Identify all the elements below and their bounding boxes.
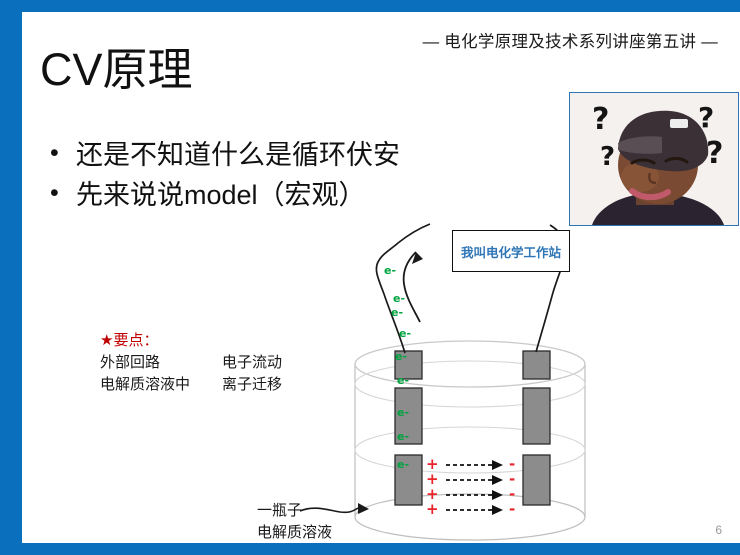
callout-box: 我叫电化学工作站 — [452, 230, 570, 272]
question-mark-icon: ? — [706, 136, 723, 171]
meme-image: ? ? ? ? — [569, 92, 739, 226]
keypoints-row: 外部回路 电子流动 — [100, 352, 282, 375]
bullet-marker: • — [50, 137, 76, 170]
list-item: • 还是不知道什么是循环伏安 — [50, 137, 480, 173]
question-mark-icon: ? — [592, 102, 609, 137]
electron-flow-arrow — [404, 252, 420, 322]
slide-page: — 电化学原理及技术系列讲座第五讲 — CV原理 • 还是不知道什么是循环伏安 … — [22, 12, 740, 543]
electron-label: e- — [384, 264, 396, 277]
keypoints-row-right: 电子流动 — [222, 352, 282, 375]
keypoints-row-right: 离子迁移 — [222, 374, 282, 397]
anion-label: - — [509, 455, 515, 473]
anion-label: - — [509, 485, 515, 503]
electron-flow-arrowhead — [412, 252, 423, 264]
list-item: • 先来说说model（宏观） — [50, 177, 480, 213]
meme-illustration: ? ? ? ? — [570, 93, 738, 225]
anion-label: - — [509, 500, 515, 518]
working-electrode-left — [395, 351, 422, 505]
bullet-list: • 还是不知道什么是循环伏安 • 先来说说model（宏观） — [50, 137, 480, 218]
electron-label: e- — [399, 327, 411, 340]
header-note: — 电化学原理及技术系列讲座第五讲 — — [423, 28, 718, 52]
cation-label: + — [426, 485, 439, 503]
callout-label: 我叫电化学工作站 — [461, 242, 561, 261]
anion-label: - — [509, 470, 515, 488]
bottle-label-line1: 一瓶子 — [257, 500, 332, 522]
slide-root: — 电化学原理及技术系列讲座第五讲 — CV原理 • 还是不知道什么是循环伏安 … — [0, 0, 740, 555]
bottle-label-line2: 电解质溶液 — [257, 522, 332, 543]
question-mark-icon: ? — [698, 101, 714, 134]
keypoints-block: ★要点： 外部回路 电子流动 电解质溶液中 离子迁移 — [100, 330, 282, 397]
cation-label: + — [426, 455, 439, 473]
keypoints-row-left: 电解质溶液中 — [100, 374, 222, 397]
wire-left — [376, 224, 430, 353]
cation-label: + — [426, 470, 439, 488]
counter-electrode-right — [523, 351, 550, 505]
electron-label: e- — [397, 430, 409, 443]
beaker-cylinder — [355, 341, 585, 540]
electron-label: e- — [393, 292, 405, 305]
electron-label: e- — [397, 374, 409, 387]
page-title: CV原理 — [40, 46, 193, 93]
electron-label: e- — [397, 458, 409, 471]
electron-label: e- — [391, 306, 403, 319]
bullet-text: 先来说说model（宏观） — [76, 177, 366, 213]
bottle-label: 一瓶子 电解质溶液 — [257, 500, 332, 543]
cation-label: + — [426, 500, 439, 518]
electron-label: e- — [397, 406, 409, 419]
page-number: 6 — [715, 523, 722, 537]
bullet-text: 还是不知道什么是循环伏安 — [76, 137, 400, 173]
keypoints-heading: ★要点： — [100, 330, 282, 352]
bottle-leader-arrowhead — [358, 503, 369, 514]
electron-label: e- — [395, 350, 407, 363]
keypoints-row-left: 外部回路 — [100, 352, 222, 375]
ion-migration-arrows — [446, 460, 503, 515]
question-mark-icon: ? — [600, 142, 615, 172]
bullet-marker: • — [50, 177, 76, 210]
keypoints-row: 电解质溶液中 离子迁移 — [100, 374, 282, 397]
